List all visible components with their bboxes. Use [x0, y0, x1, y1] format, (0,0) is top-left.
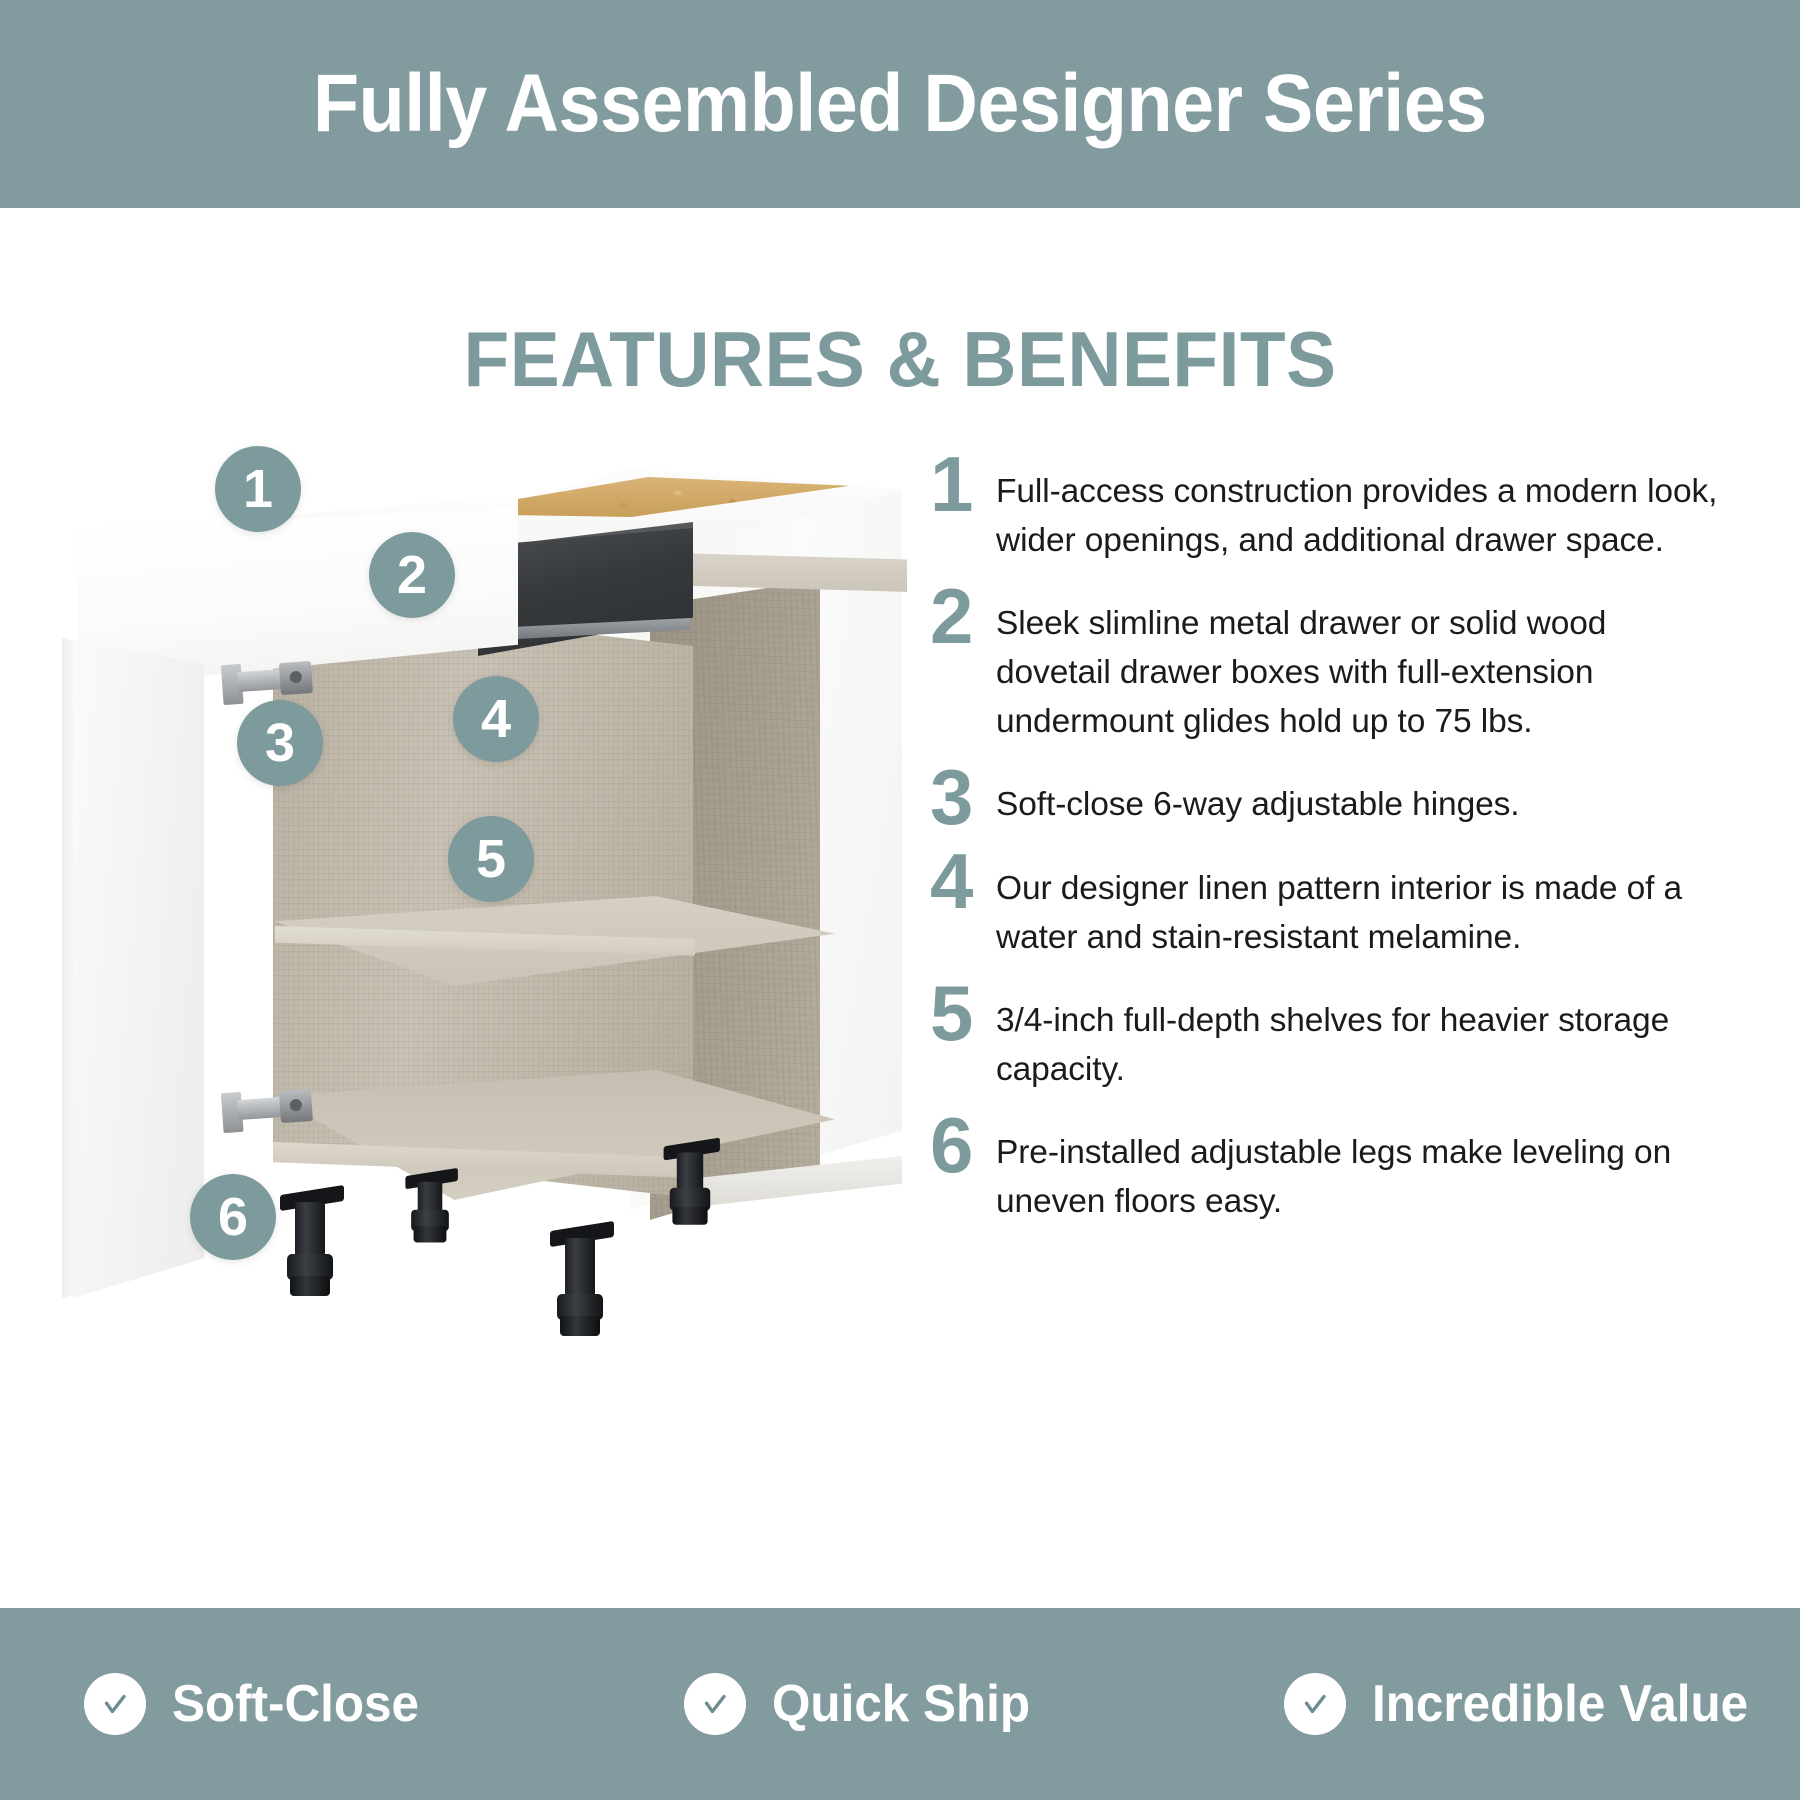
footer-item-soft-close: Soft-Close — [0, 1673, 600, 1735]
callout-badge-4-number: 4 — [481, 692, 511, 746]
feature-description: 3/4-inch full-depth shelves for heavier … — [996, 979, 1730, 1095]
header-bar: Fully Assembled Designer Series — [0, 0, 1800, 208]
callout-badge-1[interactable]: 1 — [215, 446, 301, 532]
footer-item-quick-ship: Quick Ship — [600, 1673, 1200, 1735]
feature-number: 3 — [930, 763, 996, 832]
section-title: FEATURES & BENEFITS — [36, 320, 1764, 398]
feature-number: 6 — [930, 1111, 996, 1180]
cabinet-door-edge — [44, 638, 76, 1298]
callout-badge-5[interactable]: 5 — [448, 816, 534, 902]
check-circle-icon — [684, 1673, 746, 1735]
feature-number: 4 — [930, 847, 996, 916]
check-circle-icon — [1284, 1673, 1346, 1735]
feature-item: 3 Soft-close 6-way adjustable hinges. — [930, 763, 1730, 832]
page-title: Fully Assembled Designer Series — [313, 63, 1487, 145]
callout-badge-6-number: 6 — [218, 1190, 248, 1244]
footer-bar: Soft-Close Quick Ship Incredible Value — [0, 1608, 1800, 1800]
callout-badge-3[interactable]: 3 — [237, 700, 323, 786]
footer-item-incredible-value: Incredible Value — [1200, 1673, 1800, 1735]
callout-badge-2[interactable]: 2 — [369, 532, 455, 618]
callout-badge-2-number: 2 — [397, 548, 427, 602]
callout-badge-1-number: 1 — [243, 462, 273, 516]
feature-description: Sleek slimline metal drawer or solid woo… — [996, 582, 1730, 747]
feature-item: 4 Our designer linen pattern interior is… — [930, 847, 1730, 963]
feature-description: Pre-installed adjustable legs make level… — [996, 1111, 1730, 1227]
feature-description: Soft-close 6-way adjustable hinges. — [996, 763, 1730, 830]
callout-badge-3-number: 3 — [265, 716, 295, 770]
features-list: 1 Full-access construction provides a mo… — [930, 450, 1730, 1243]
product-illustration: 1 2 3 4 5 6 — [30, 430, 910, 1430]
feature-item: 5 3/4-inch full-depth shelves for heavie… — [930, 979, 1730, 1095]
callout-badge-4[interactable]: 4 — [453, 676, 539, 762]
feature-item: 6 Pre-installed adjustable legs make lev… — [930, 1111, 1730, 1227]
feature-item: 2 Sleek slimline metal drawer or solid w… — [930, 582, 1730, 747]
feature-number: 5 — [930, 979, 996, 1048]
feature-number: 1 — [930, 450, 996, 519]
callout-badge-5-number: 5 — [476, 832, 506, 886]
footer-label: Incredible Value — [1372, 1678, 1748, 1730]
feature-description: Our designer linen pattern interior is m… — [996, 847, 1730, 963]
main-content: 1 2 3 4 5 6 1 Full-access construction p… — [0, 430, 1800, 1580]
feature-number: 2 — [930, 582, 996, 651]
footer-label: Quick Ship — [772, 1678, 1030, 1730]
check-circle-icon — [84, 1673, 146, 1735]
feature-description: Full-access construction provides a mode… — [996, 450, 1730, 566]
callout-badge-6[interactable]: 6 — [190, 1174, 276, 1260]
feature-item: 1 Full-access construction provides a mo… — [930, 450, 1730, 566]
footer-label: Soft-Close — [172, 1678, 419, 1730]
soft-close-hinge-bottom — [220, 1077, 316, 1139]
